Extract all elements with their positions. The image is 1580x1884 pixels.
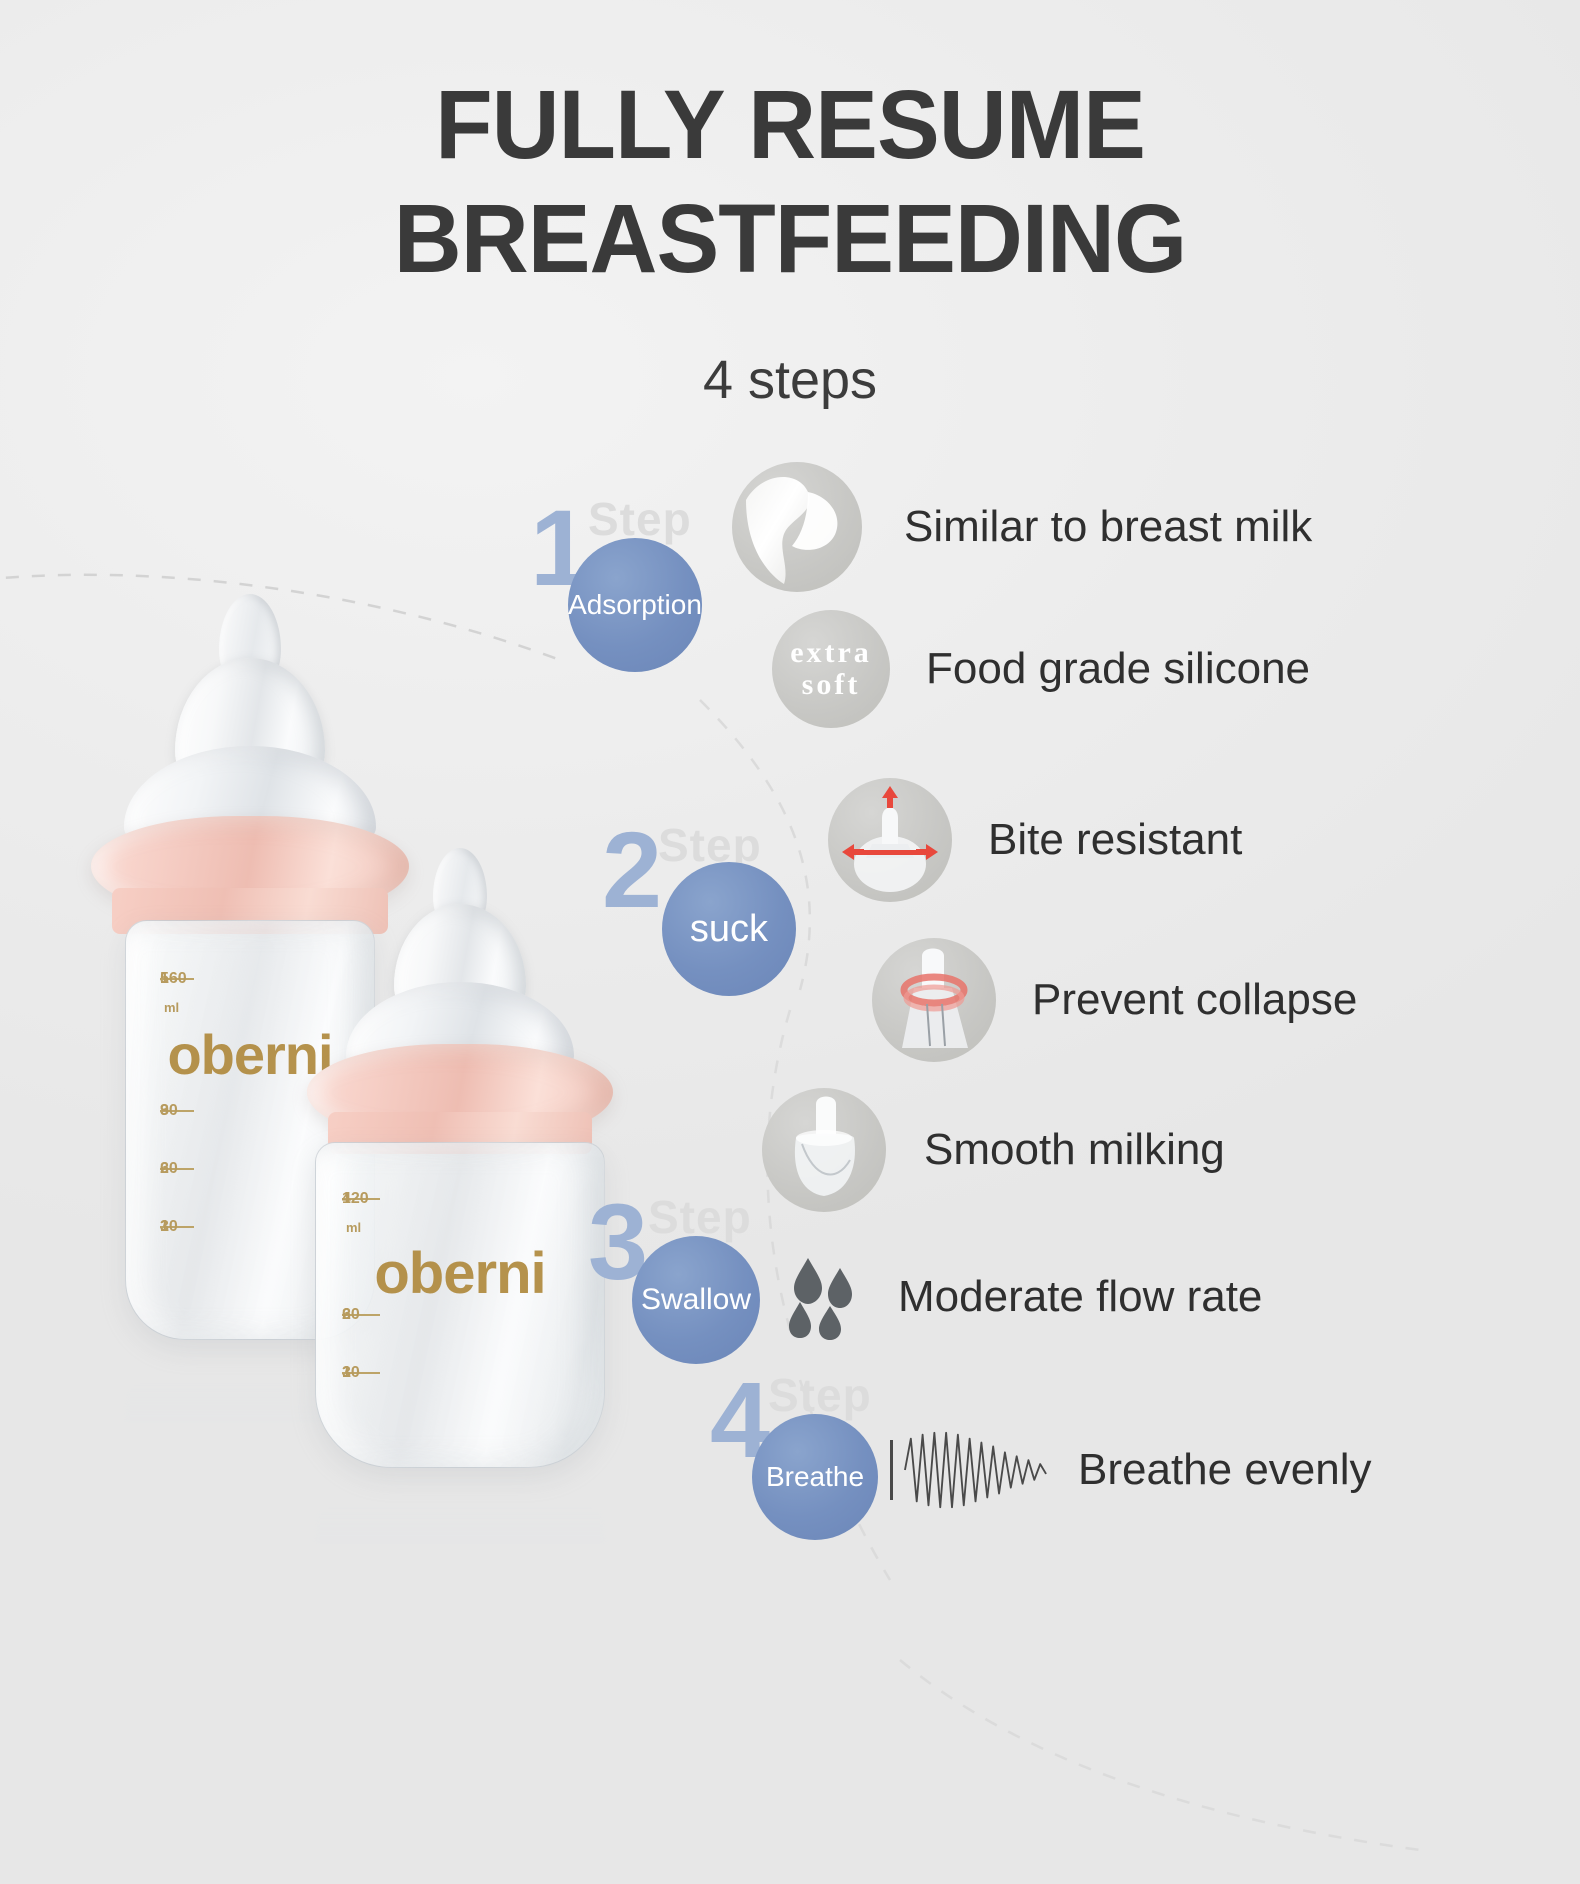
step-1-badge-label: Adsorption — [568, 589, 702, 621]
feature-label: Moderate flow rate — [898, 1272, 1262, 1322]
step-2-number: 2 — [602, 816, 662, 924]
extra-soft-badge-icon: extra soft — [772, 610, 890, 728]
large-bottle-unit: ml — [164, 1000, 179, 1015]
feature-label: Food grade silicone — [926, 644, 1310, 694]
step-2-watermark: Step — [658, 822, 762, 868]
small-bottle-scale-60: 60 2 — [342, 1314, 380, 1316]
extra-soft-line-1: extra — [790, 637, 872, 669]
feature-food-grade-silicone: extra soft Food grade silicone — [772, 610, 1310, 728]
extra-soft-line-2: soft — [802, 669, 861, 701]
step-1-watermark: Step — [588, 496, 692, 542]
nipple-anti-collapse-icon — [872, 938, 996, 1062]
scale-value-oz: 3 — [160, 1102, 169, 1120]
page-title: FULLY RESUME BREASTFEEDING — [24, 0, 1557, 297]
waveform-axis-bar — [890, 1440, 893, 1500]
step-4-badge[interactable]: Breathe — [752, 1414, 878, 1540]
title-line-1: FULLY RESUME — [24, 68, 1557, 182]
extra-soft-text: extra soft — [772, 610, 890, 728]
small-bottle-unit: ml — [346, 1220, 361, 1235]
scale-value-oz: 1 — [342, 1364, 351, 1382]
nipple-profile-icon — [732, 462, 862, 592]
water-droplets-icon — [778, 1254, 864, 1340]
scale-value-oz: 2 — [342, 1306, 351, 1324]
feature-label: Bite resistant — [988, 815, 1242, 865]
step-2: Step 2 suck — [540, 788, 1580, 1188]
nipple-stretch-glyph — [828, 778, 952, 902]
step-1: Step 1 Adsorption — [540, 470, 1580, 730]
step-1-badge[interactable]: Adsorption — [568, 538, 702, 672]
step-3-watermark: Step — [648, 1194, 752, 1240]
feature-label: Breathe evenly — [1078, 1445, 1372, 1495]
step-4: Step 4 Breathe Breathe evenly — [540, 1340, 1580, 1560]
scale-value-oz: 1 — [160, 1218, 169, 1236]
feature-moderate-flow-rate: Moderate flow rate — [778, 1254, 1262, 1340]
breathing-waveform-icon — [890, 1424, 1050, 1516]
scale-value-oz: 5 — [160, 970, 169, 988]
infographic-page: FULLY RESUME BREASTFEEDING 4 steps obern… — [0, 0, 1580, 1884]
feature-bite-resistant: Bite resistant — [828, 778, 1242, 902]
nipple-profile-glyph — [732, 462, 862, 592]
feature-similar-to-breast-milk: Similar to breast milk — [732, 462, 1312, 592]
step-3-badge[interactable]: Swallow — [632, 1236, 760, 1364]
feature-label: Similar to breast milk — [904, 502, 1312, 552]
large-bottle-scale-60: 60 2 — [160, 1168, 194, 1170]
large-bottle-scale-160: 160 5 — [160, 978, 194, 980]
small-bottle-scale-30: 30 1 — [342, 1372, 380, 1374]
water-droplets-glyph — [778, 1254, 864, 1340]
page-subtitle: 4 steps — [0, 349, 1580, 411]
feature-prevent-collapse: Prevent collapse — [872, 938, 1357, 1062]
nipple-stretch-arrows-icon — [828, 778, 952, 902]
breathing-waveform-glyph — [903, 1424, 1050, 1516]
feature-breathe-evenly: Breathe evenly — [890, 1424, 1372, 1516]
step-2-badge[interactable]: suck — [662, 862, 796, 996]
small-bottle-brand: oberni — [374, 1240, 545, 1307]
title-line-2: BREASTFEEDING — [24, 182, 1557, 296]
step-2-badge-label: suck — [690, 908, 768, 951]
scale-value-oz: 4 — [342, 1190, 351, 1208]
steps-container: Step 1 Adsorption — [540, 470, 1580, 1650]
nipple-anti-collapse-glyph — [872, 938, 996, 1062]
step-4-badge-label: Breathe — [766, 1461, 864, 1493]
step-3-badge-label: Swallow — [641, 1283, 751, 1317]
small-bottle-scale-120: 120 4 — [342, 1198, 380, 1200]
feature-label: Prevent collapse — [1032, 975, 1357, 1025]
header: FULLY RESUME BREASTFEEDING 4 steps — [0, 0, 1580, 411]
scale-value-oz: 2 — [160, 1160, 169, 1178]
large-bottle-scale-90: 90 3 — [160, 1110, 194, 1112]
step-4-watermark: Step — [768, 1372, 872, 1418]
large-bottle-scale-30: 30 1 — [160, 1226, 194, 1228]
